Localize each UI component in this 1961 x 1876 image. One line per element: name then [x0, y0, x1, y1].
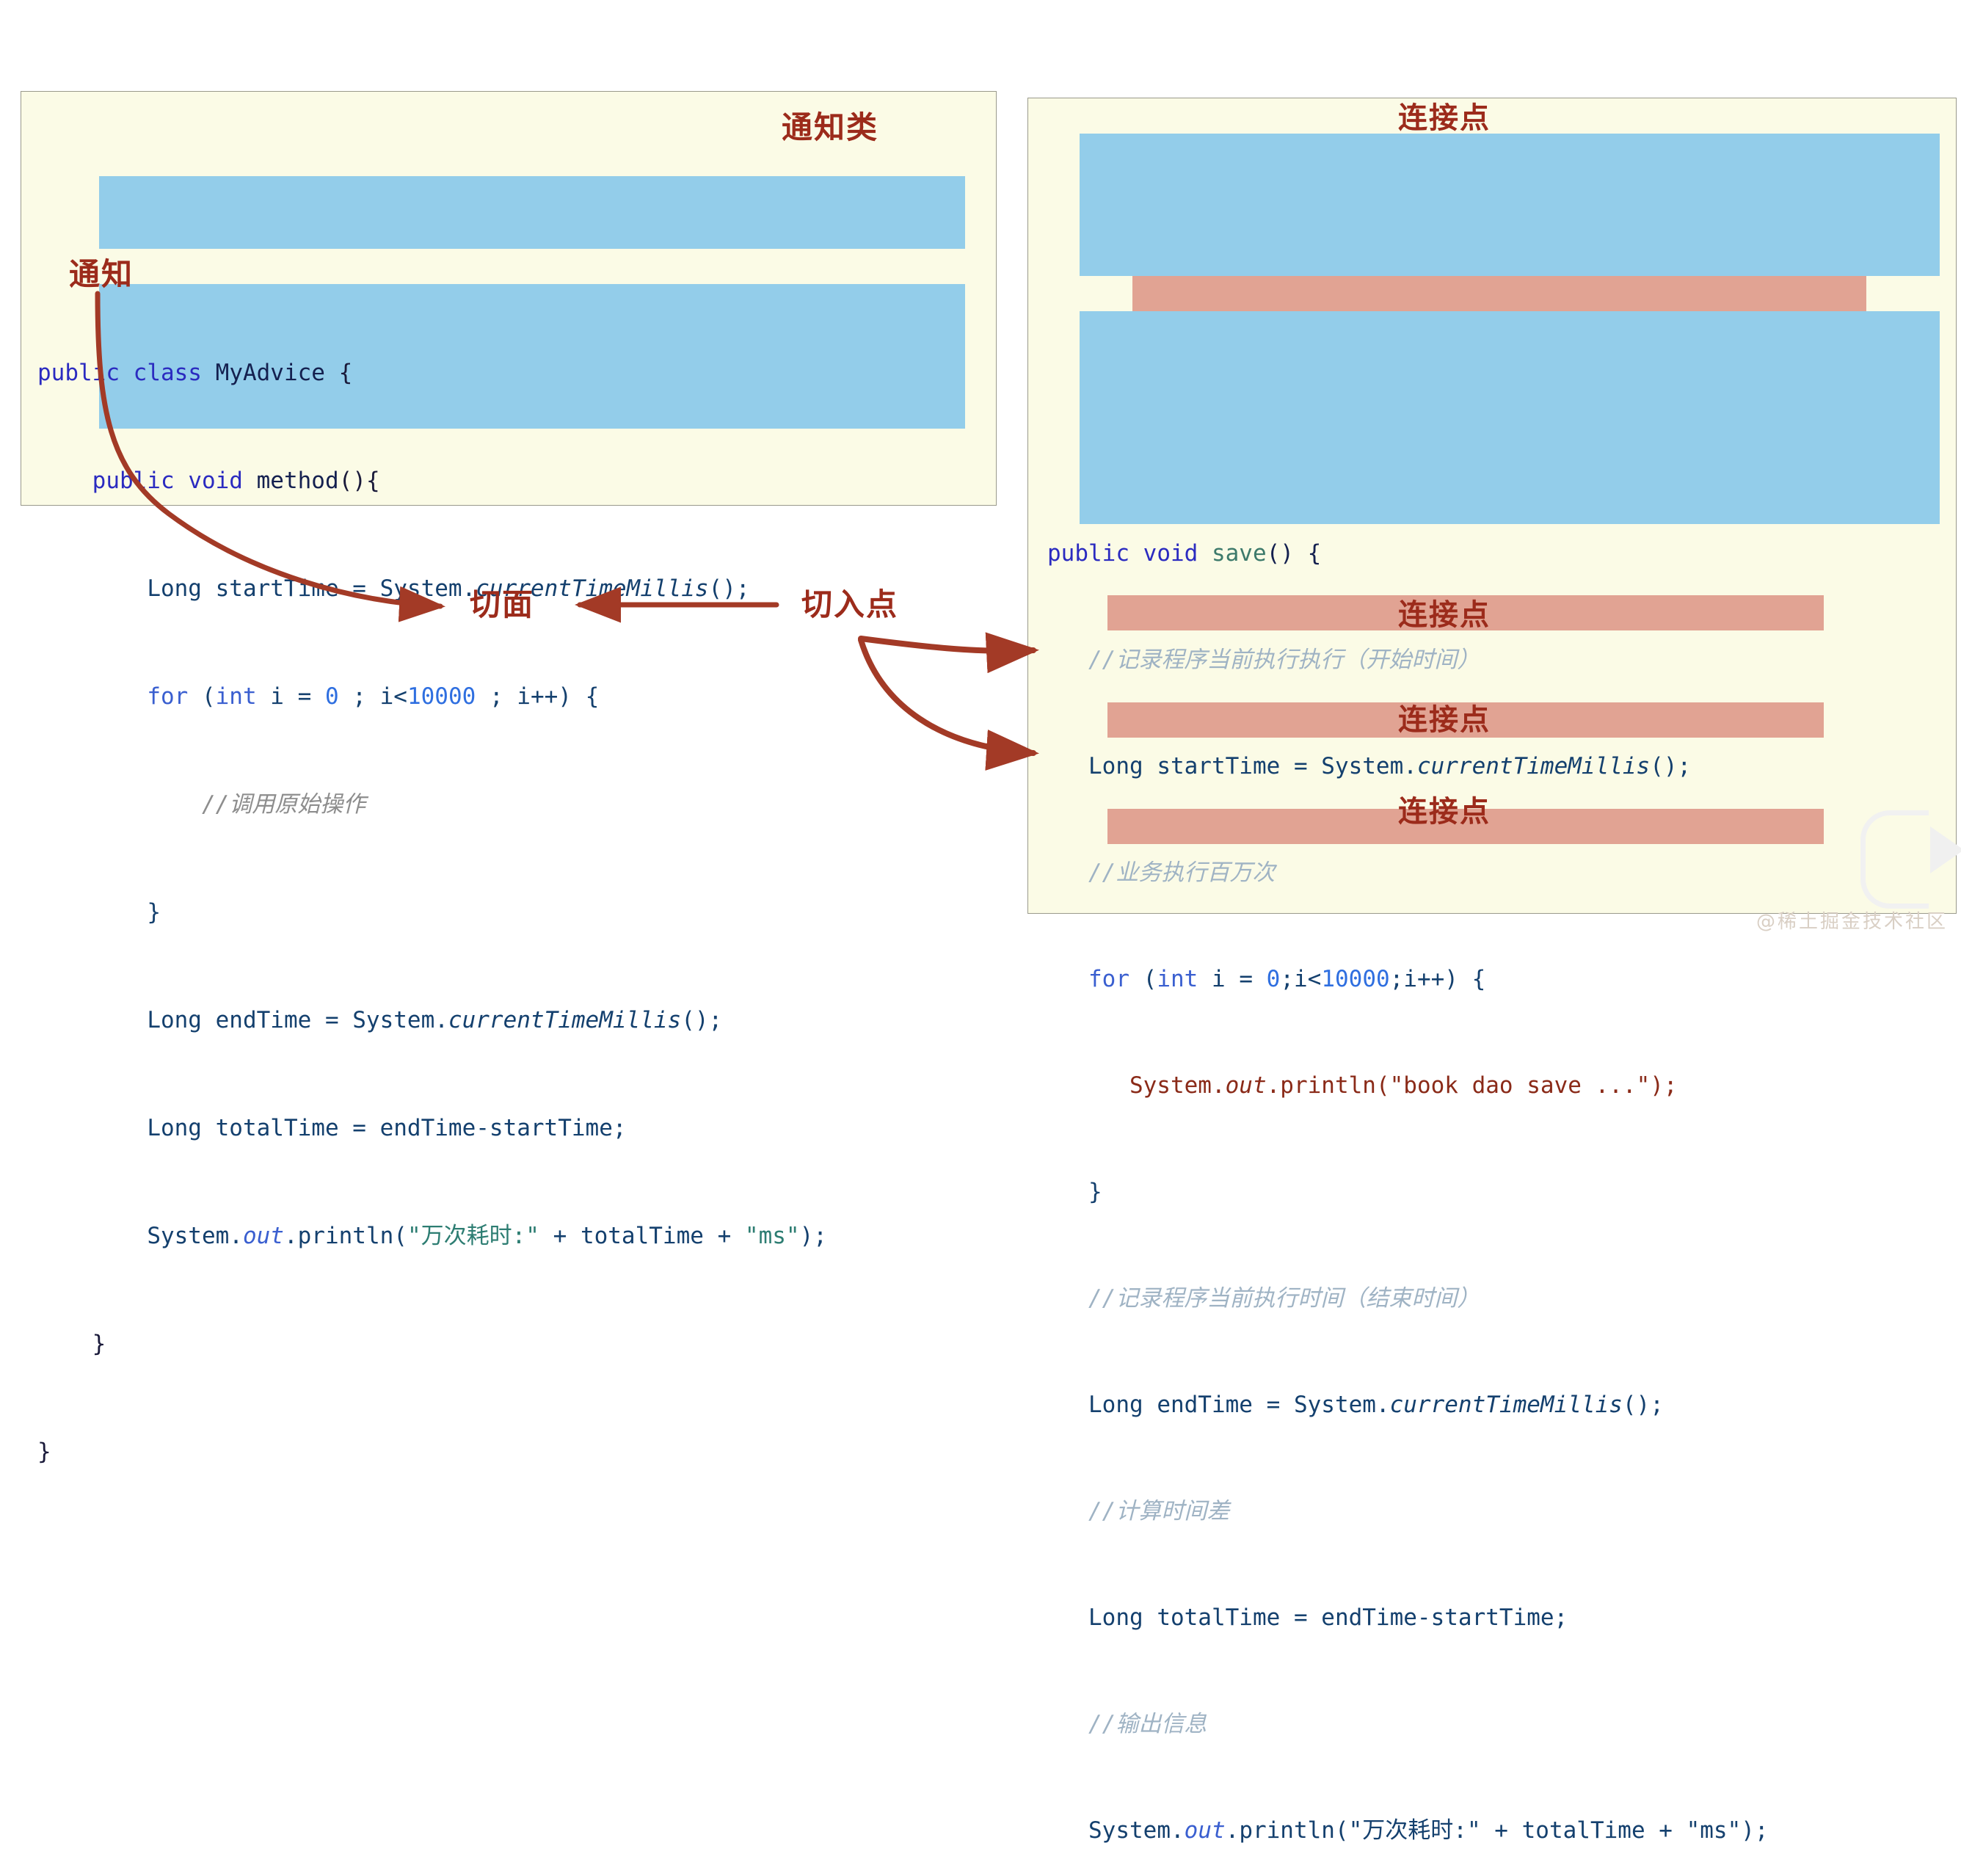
code-line: Long endTime = System.currentTimeMillis(… — [37, 1003, 996, 1039]
code-line-comment: //调用原始操作 — [37, 787, 996, 823]
code-line: public void save() { — [1047, 536, 1956, 571]
diagram-stage: public class MyAdvice { public void meth… — [0, 0, 1961, 938]
label-join-point-select: 连接点 — [1398, 788, 1491, 830]
code-line: Long endTime = System.currentTimeMillis(… — [1047, 1387, 1956, 1422]
watermark-text: @稀土掘金技术社区 — [1756, 906, 1948, 934]
code-line-println-save: System.out.println("book dao save ..."); — [1047, 1068, 1956, 1103]
label-notice-class: 通知类 — [782, 103, 878, 148]
advice-class-code-panel: public class MyAdvice { public void meth… — [21, 91, 997, 506]
code-line: public void method(){ — [37, 463, 996, 499]
watermark-logo-shape — [1873, 806, 1961, 909]
code-line-comment: //记录程序当前执行时间（结束时间） — [1047, 1281, 1956, 1316]
code-line: for (int i = 0;i<10000;i++) { — [1047, 961, 1956, 997]
code-line: } — [1047, 1174, 1956, 1210]
highlight-block-save-println — [1132, 276, 1866, 311]
label-pointcut: 切入点 — [801, 580, 898, 625]
code-line-comment: //记录程序当前执行执行（开始时间） — [1047, 642, 1956, 677]
code-line: System.out.println("万次耗时:" + totalTime +… — [1047, 1813, 1956, 1848]
label-notice: 通知 — [69, 250, 134, 294]
code-line: System.out.println("万次耗时:" + totalTime +… — [37, 1218, 996, 1254]
code-line: public class MyAdvice { — [37, 355, 996, 391]
code-line: } — [37, 895, 996, 931]
code-line: } — [37, 1434, 996, 1470]
code-line: } — [37, 1326, 996, 1362]
highlight-block-advice-top — [99, 176, 965, 249]
advice-class-code: public class MyAdvice { public void meth… — [21, 92, 996, 1542]
label-join-point-save: 连接点 — [1398, 94, 1491, 137]
bookdao-code-panel: public void save() { //记录程序当前执行执行（开始时间） … — [1027, 98, 1957, 914]
label-join-point-update: 连接点 — [1398, 591, 1491, 633]
label-join-point-delete: 连接点 — [1398, 696, 1491, 738]
code-line: Long totalTime = endTime-startTime; — [1047, 1600, 1956, 1635]
label-aspect: 切面 — [470, 580, 534, 625]
code-line: for (int i = 0 ; i<10000 ; i++) { — [37, 679, 996, 715]
highlight-block-save-upper — [1080, 134, 1940, 276]
code-line: Long totalTime = endTime-startTime; — [37, 1110, 996, 1146]
bookdao-code: public void save() { //记录程序当前执行执行（开始时间） … — [1028, 98, 1956, 1876]
highlight-block-save-lower — [1080, 311, 1940, 524]
code-line: Long startTime = System.currentTimeMilli… — [1047, 749, 1956, 784]
code-line-comment: //计算时间差 — [1047, 1494, 1956, 1529]
code-line-comment: //输出信息 — [1047, 1706, 1956, 1742]
code-line-comment: //业务执行百万次 — [1047, 855, 1956, 890]
